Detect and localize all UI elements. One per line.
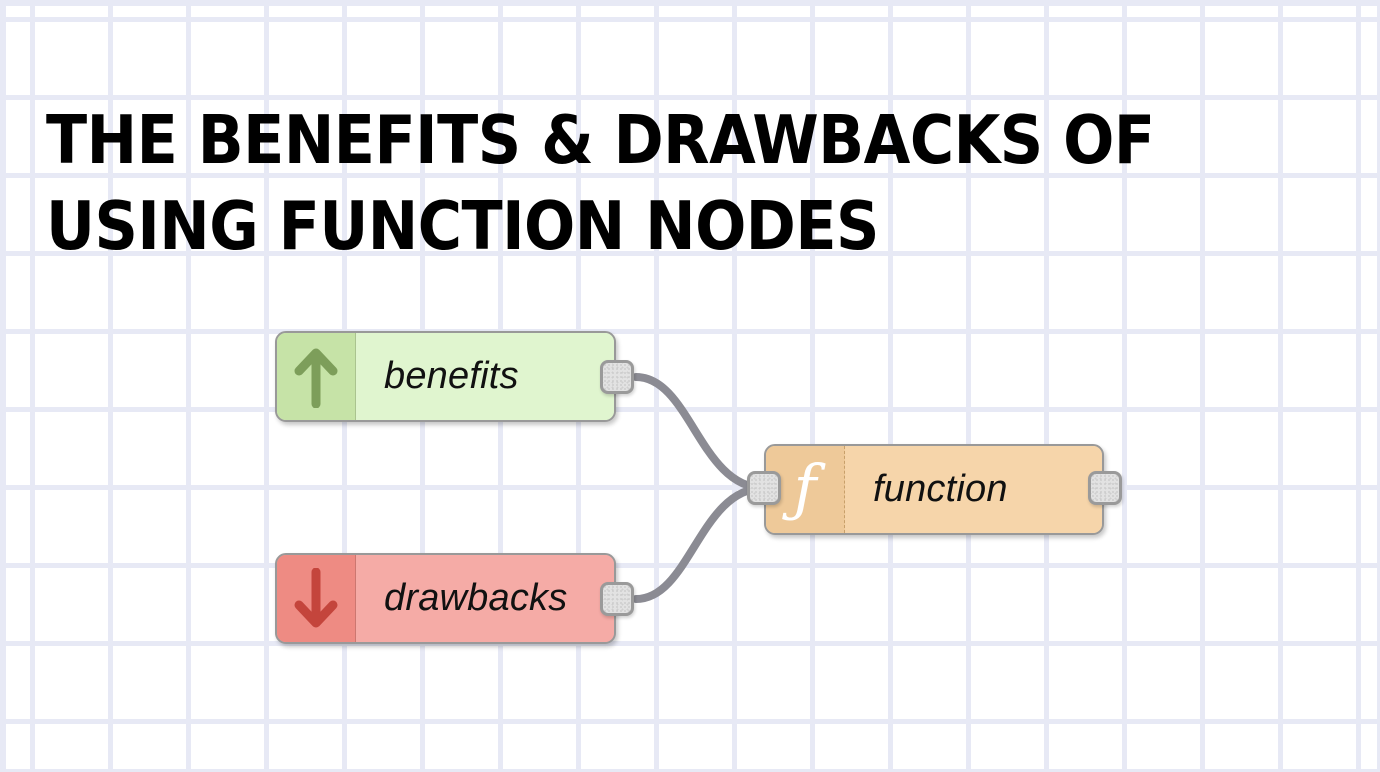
node-drawbacks-label: drawbacks — [356, 555, 614, 642]
wire-drawbacks-to-function — [636, 488, 764, 599]
node-benefits-label: benefits — [356, 333, 614, 420]
port-function-output[interactable] — [1088, 471, 1122, 505]
flow-canvas[interactable]: benefits drawbacks ƒ function THE BENEFI… — [0, 0, 1380, 772]
arrow-down-icon — [277, 555, 356, 642]
node-drawbacks[interactable]: drawbacks — [275, 553, 616, 644]
frame-edge-left — [0, 0, 6, 772]
frame-edge-top — [0, 0, 1380, 6]
port-benefits-output[interactable] — [600, 360, 634, 394]
port-drawbacks-output[interactable] — [600, 582, 634, 616]
node-function[interactable]: ƒ function — [764, 444, 1104, 535]
wire-benefits-to-function — [636, 377, 764, 488]
function-f-glyph: ƒ — [794, 457, 817, 519]
port-function-input[interactable] — [747, 471, 781, 505]
page-title: THE BENEFITS & DRAWBACKS OF USING FUNCTI… — [46, 97, 1246, 269]
node-function-label: function — [845, 446, 1102, 533]
node-benefits[interactable]: benefits — [275, 331, 616, 422]
arrow-up-icon — [277, 333, 356, 420]
